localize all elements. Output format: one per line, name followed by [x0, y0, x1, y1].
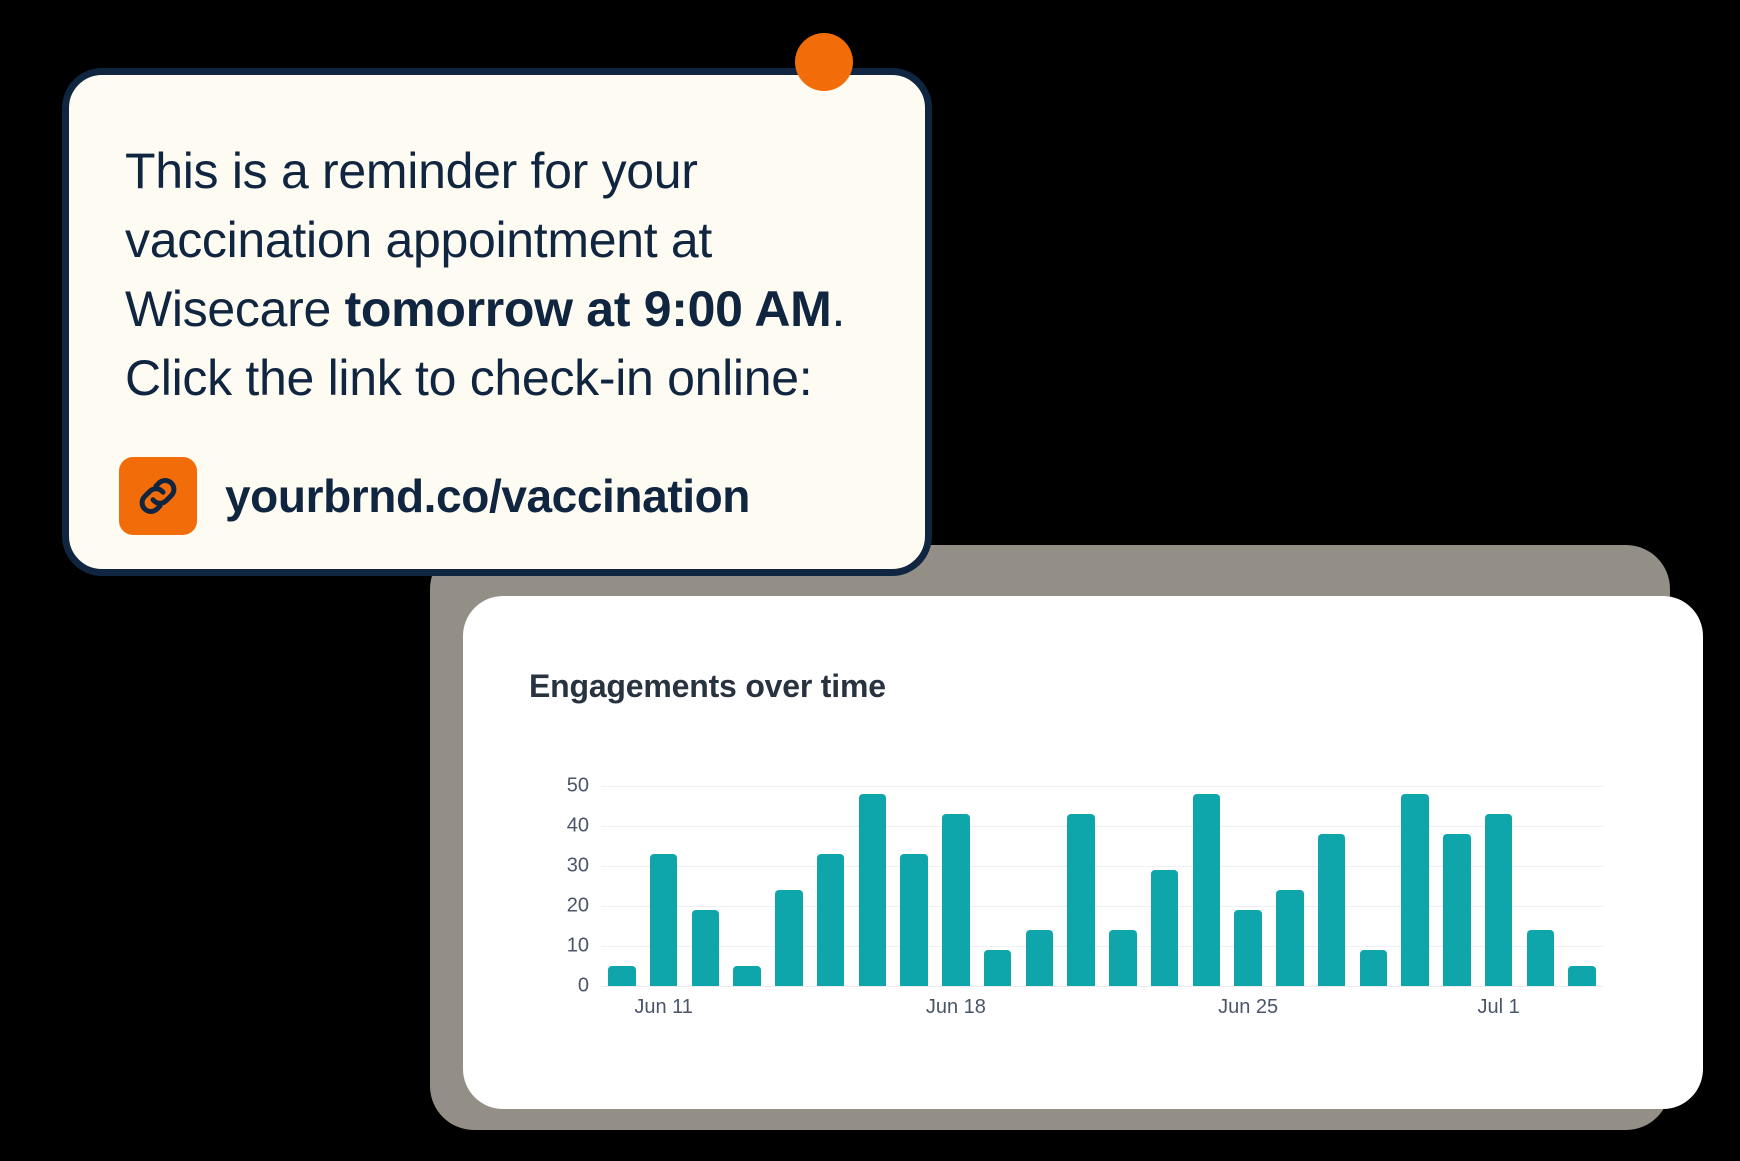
- chart-y-tick-label: 50: [567, 775, 589, 798]
- chart-bar-slot[interactable]: [1269, 786, 1311, 986]
- chart-bar[interactable]: [1360, 950, 1388, 986]
- chart-bar-slot[interactable]: [601, 786, 643, 986]
- chart-bar-slot[interactable]: [1561, 786, 1603, 986]
- chart-x-axis: Jun 11Jun 18Jun 25Jul 1Jul 8Jul 15: [601, 996, 1603, 1030]
- chart-bar-slot[interactable]: [935, 786, 977, 986]
- chart-bar[interactable]: [1234, 910, 1262, 986]
- chart-y-tick-label: 20: [567, 895, 589, 918]
- chart-bar-slot[interactable]: [726, 786, 768, 986]
- chart-bar[interactable]: [775, 890, 803, 986]
- chart-bar[interactable]: [1276, 890, 1304, 986]
- chart-x-tick-label: Jul 1: [1478, 996, 1520, 1019]
- chart-bar[interactable]: [1318, 834, 1346, 986]
- chart-x-tick-label: Jun 11: [634, 996, 693, 1019]
- chart-y-tick-label: 0: [578, 975, 589, 998]
- chart-bar[interactable]: [692, 910, 720, 986]
- chart-bar-slot[interactable]: [1060, 786, 1102, 986]
- chart-bar[interactable]: [1443, 834, 1471, 986]
- sms-line-3-plain: Wisecare: [125, 281, 345, 337]
- sms-message-bubble: This is a reminder for your vaccination …: [62, 68, 932, 576]
- chart-bar[interactable]: [1151, 870, 1179, 986]
- chart-x-tick-label: Jun 18: [926, 996, 986, 1019]
- chart-bar-slot[interactable]: [685, 786, 727, 986]
- chart-bar[interactable]: [608, 966, 636, 986]
- sms-line-4: Click the link to check-in online:: [125, 350, 812, 406]
- chart-bar-slot[interactable]: [893, 786, 935, 986]
- sms-link-url[interactable]: yourbrnd.co/vaccination: [225, 469, 750, 523]
- chart-y-tick-label: 30: [567, 855, 589, 878]
- chart-bar[interactable]: [650, 854, 678, 986]
- chart-bar[interactable]: [859, 794, 887, 986]
- sms-link-row[interactable]: yourbrnd.co/vaccination: [119, 457, 750, 535]
- sms-line-3-bold: tomorrow at 9:00 AM: [345, 281, 832, 337]
- chart-bar-slot[interactable]: [768, 786, 810, 986]
- chart-bar-slot[interactable]: [1520, 786, 1562, 986]
- chart-bar-slot[interactable]: [1394, 786, 1436, 986]
- chart-bar[interactable]: [942, 814, 970, 986]
- chart-x-tick-label: Jun 25: [1218, 996, 1278, 1019]
- chart-bar[interactable]: [1109, 930, 1137, 986]
- sms-line-3-tail: .: [832, 281, 846, 337]
- chart-bar[interactable]: [900, 854, 928, 986]
- chart-y-tick-label: 40: [567, 815, 589, 838]
- chart-bar-slot[interactable]: [1478, 786, 1520, 986]
- chart-bar-slot[interactable]: [810, 786, 852, 986]
- chart-bar[interactable]: [1568, 966, 1596, 986]
- analytics-card: Engagements over time 01020304050 Jun 11…: [463, 596, 1703, 1109]
- sms-line-2: vaccination appointment at: [125, 212, 712, 268]
- chart-bar-slot[interactable]: [1019, 786, 1061, 986]
- chart-bar[interactable]: [1485, 814, 1513, 986]
- chart-bar[interactable]: [984, 950, 1012, 986]
- chart-bar-slot[interactable]: [643, 786, 685, 986]
- orange-accent-dot: [795, 33, 853, 91]
- chart-bar-slot[interactable]: [1102, 786, 1144, 986]
- engagements-bar-chart: 01020304050 Jun 11Jun 18Jun 25Jul 1Jul 8…: [523, 786, 1643, 1026]
- chart-bar[interactable]: [1401, 794, 1429, 986]
- sms-message-text: This is a reminder for your vaccination …: [125, 137, 885, 413]
- chart-bar[interactable]: [1527, 930, 1555, 986]
- chart-bar-slot[interactable]: [1311, 786, 1353, 986]
- chart-bar[interactable]: [1026, 930, 1054, 986]
- chart-bar[interactable]: [1067, 814, 1095, 986]
- chart-plot-area: 01020304050: [601, 786, 1603, 986]
- chart-title: Engagements over time: [529, 668, 886, 705]
- chart-bar-slot[interactable]: [852, 786, 894, 986]
- chart-bar[interactable]: [817, 854, 845, 986]
- chart-bar-slot[interactable]: [1436, 786, 1478, 986]
- link-chain-icon: [119, 457, 197, 535]
- chart-bar[interactable]: [1193, 794, 1221, 986]
- chart-bar-slot[interactable]: [1186, 786, 1228, 986]
- chart-bar-slot[interactable]: [1353, 786, 1395, 986]
- chart-y-tick-label: 10: [567, 935, 589, 958]
- chart-bar-slot[interactable]: [1227, 786, 1269, 986]
- chart-bar[interactable]: [733, 966, 761, 986]
- chart-bars: [601, 786, 1603, 986]
- chart-gridline: [601, 986, 1603, 987]
- chart-bar-slot[interactable]: [977, 786, 1019, 986]
- chart-bar-slot[interactable]: [1144, 786, 1186, 986]
- sms-line-1: This is a reminder for your: [125, 143, 698, 199]
